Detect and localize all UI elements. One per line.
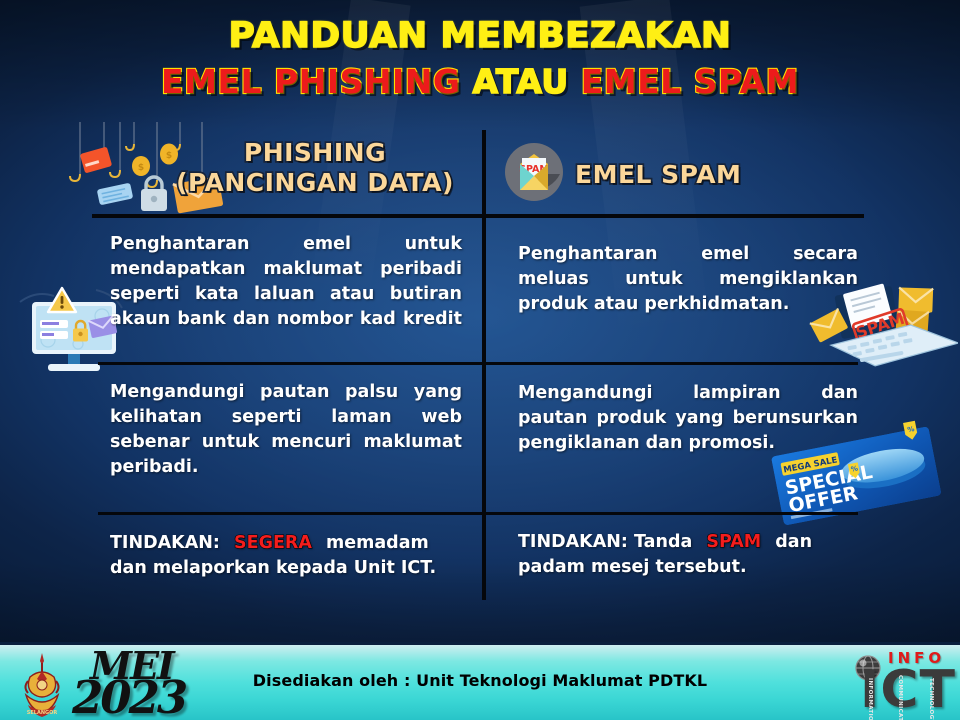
phishing-action-text: TINDAKAN: SEGERA memadam dan melaporkan … [110, 531, 462, 581]
svg-text:$: $ [138, 163, 144, 173]
phishing-row-2-text: Mengandungi pautan palsu yang kelihatan … [110, 380, 462, 479]
svg-text:%: % [907, 425, 915, 434]
phishing-row-2: Mengandungi pautan palsu yang kelihatan … [110, 380, 462, 479]
footer-bar: SELANGOR MEI 2023 Disediakan oleh : Unit… [0, 642, 960, 720]
infographic-poster: PANDUAN MEMBEZAKAN EMEL PHISHING ATAU EM… [0, 0, 960, 720]
phishing-action-keyword: SEGERA [234, 533, 312, 553]
column-header-spam: EMEL SPAM [575, 160, 875, 190]
spam-row-2: Mengandungi lampiran dan pautan produk y… [518, 381, 858, 456]
phishing-action-prefix: TINDAKAN: [110, 533, 220, 553]
column-header-phishing: PHISHING (PANCINGAN DATA) [150, 138, 480, 197]
spam-row-2-text: Mengandungi lampiran dan pautan produk y… [518, 381, 858, 456]
logo-ict-label: ICT [860, 660, 956, 720]
logo-word-information: INFORMATION [867, 678, 873, 720]
phishing-action: TINDAKAN: SEGERA memadam dan melaporkan … [110, 531, 462, 581]
spam-header-label: EMEL SPAM [575, 160, 875, 190]
divider-columns [482, 130, 486, 600]
spam-row-1: Penghantaran emel secara meluas untuk me… [518, 242, 858, 317]
divider-row-2 [98, 512, 858, 515]
logo-word-communication: COMMUNICATION [897, 675, 903, 720]
spam-row-1-text: Penghantaran emel secara meluas untuk me… [518, 242, 858, 317]
title-spam: EMEL SPAM [581, 62, 799, 101]
info-ict-logo: INFO ICT INFORMATION COMMUNICATION TECHN… [852, 648, 950, 720]
svg-text:SELANGOR: SELANGOR [27, 710, 58, 716]
phishing-header-line-1: PHISHING [150, 138, 480, 168]
spam-action-keyword: SPAM [706, 532, 761, 552]
title-line-2: EMEL PHISHING ATAU EMEL SPAM [0, 62, 960, 101]
divider-header [92, 214, 864, 218]
phishing-row-1: Penghantaran emel untuk mendapatkan makl… [110, 232, 462, 356]
poster-title: PANDUAN MEMBEZAKAN EMEL PHISHING ATAU EM… [0, 16, 960, 101]
spam-action-text: TINDAKAN: Tanda SPAM dan padam mesej ter… [518, 530, 858, 580]
spam-action: TINDAKAN: Tanda SPAM dan padam mesej ter… [518, 530, 858, 580]
title-line-1: PANDUAN MEMBEZAKAN [0, 16, 960, 56]
spam-envelope-icon: SPAM [500, 138, 568, 206]
svg-text:%: % [850, 465, 858, 474]
title-atau: ATAU [472, 62, 568, 101]
title-phishing: EMEL PHISHING [161, 62, 460, 101]
spam-action-prefix: TINDAKAN: Tanda [518, 532, 692, 552]
phishing-header-line-2: (PANCINGAN DATA) [150, 168, 480, 198]
logo-word-technology: TECHNOLOGY [928, 678, 934, 720]
phishing-row-1-text: Penghantaran emel untuk mendapatkan makl… [110, 232, 462, 356]
footer-credit: Disediakan oleh : Unit Teknologi Makluma… [0, 671, 960, 690]
divider-row-1 [98, 362, 858, 365]
